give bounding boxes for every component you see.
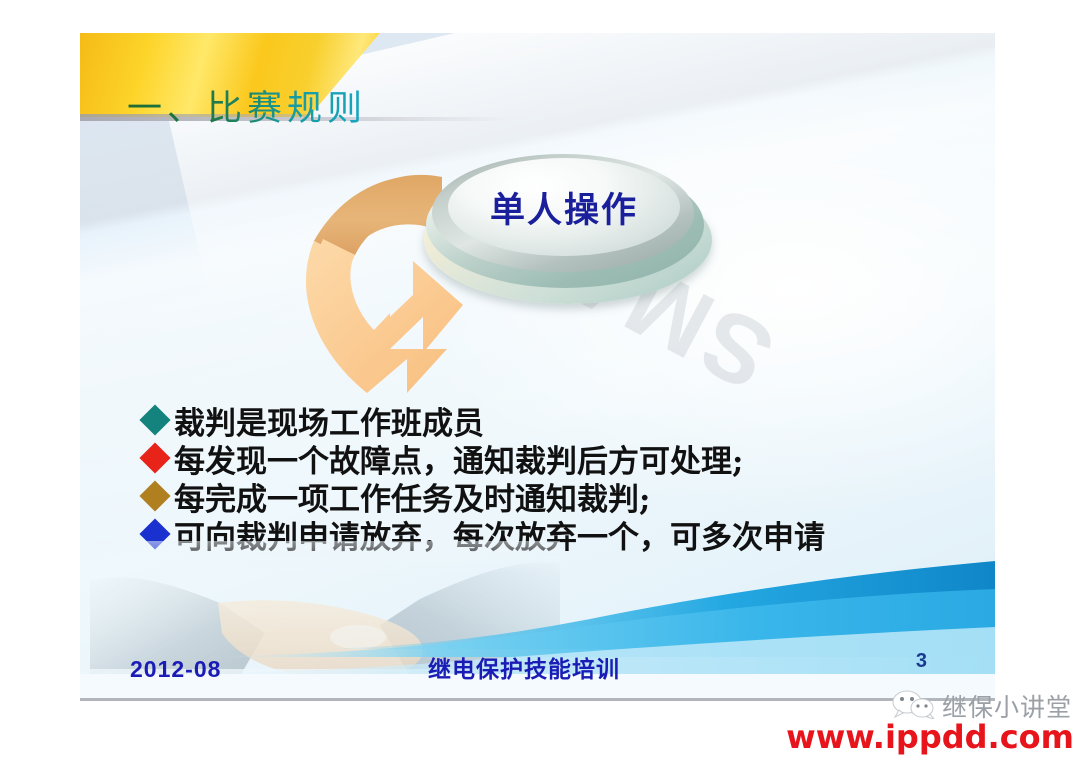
footer-date: 2012-08 — [130, 656, 221, 683]
diamond-bullet-icon — [139, 480, 170, 511]
list-item: 每发现一个故障点，通知裁判后方可处理; — [142, 439, 982, 477]
presentation-slide: SMAPS 一、比赛规则 — [80, 33, 995, 701]
callout-label: 单人操作 — [490, 182, 638, 233]
list-item: 裁判是现场工作班成员 — [142, 401, 982, 439]
diamond-bullet-icon — [139, 442, 170, 473]
diamond-bullet-icon — [139, 518, 170, 549]
callout-oval: 单人操作 — [418, 148, 718, 308]
list-item: 可向裁判申请放弃，每次放弃一个，可多次申请 — [142, 515, 982, 553]
page-number: 3 — [916, 650, 927, 673]
site-watermark: 继保小讲堂 www.ippdd.com — [750, 688, 1080, 763]
oval-face: 单人操作 — [448, 158, 680, 256]
list-item-label: 可向裁判申请放弃，每次放弃一个，可多次申请 — [174, 512, 825, 557]
watermark-url: www.ippdd.com — [786, 718, 1074, 756]
list-item: 每完成一项工作任务及时通知裁判; — [142, 477, 982, 515]
bullet-list: 裁判是现场工作班成员 每发现一个故障点，通知裁判后方可处理; 每完成一项工作任务… — [142, 401, 982, 553]
page-title: 一、比赛规则 — [127, 80, 367, 131]
footer-title: 继电保护技能培训 — [428, 650, 620, 684]
diamond-bullet-icon — [139, 404, 170, 435]
